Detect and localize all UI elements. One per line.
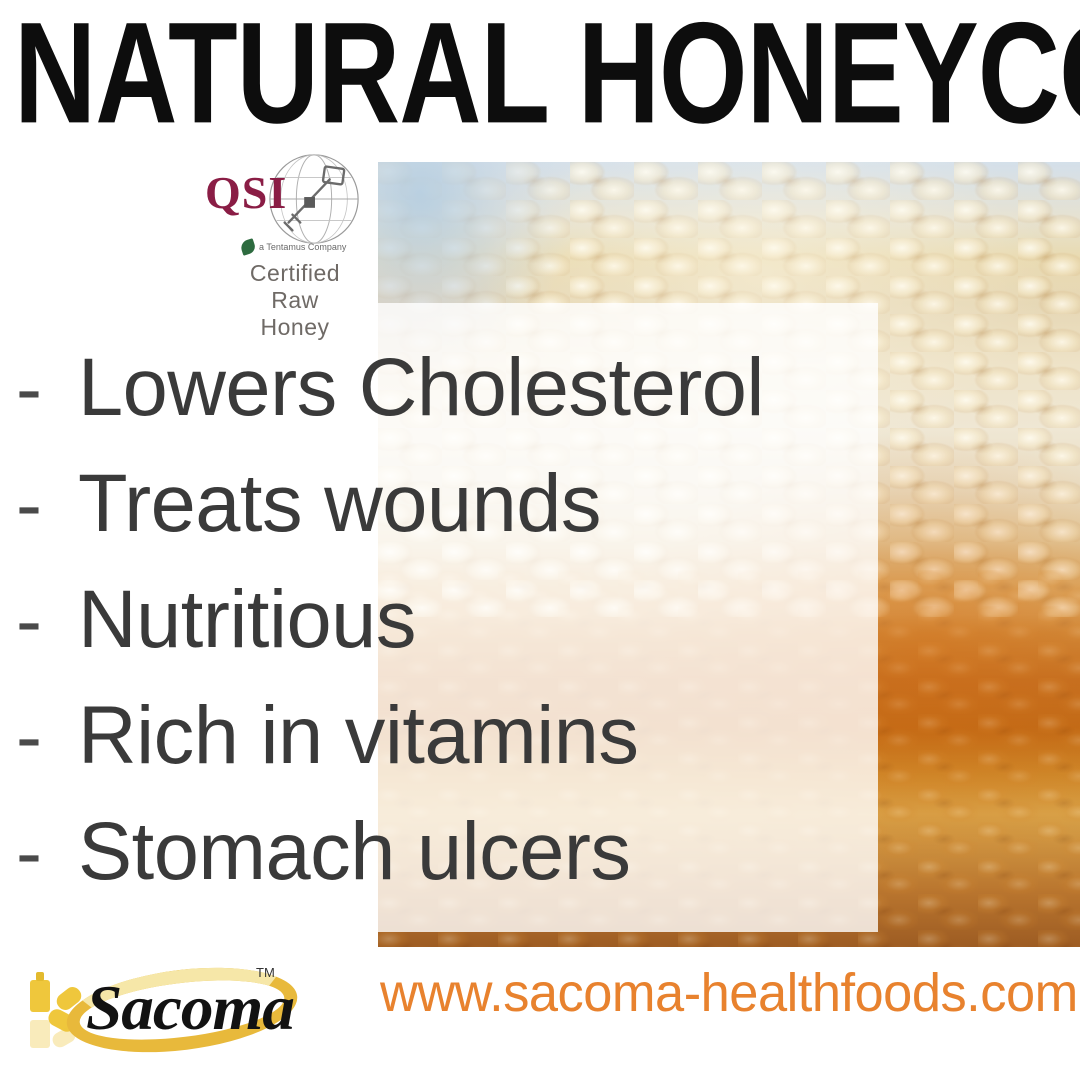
benefit-label: Rich in vitamins	[78, 695, 639, 777]
trademark-symbol: TM	[256, 966, 275, 979]
leaf-icon	[239, 238, 257, 256]
page-title: NATURAL HONEYCOMB	[14, 4, 1033, 144]
poster-canvas: NATURAL HONEYCOMB QSI	[0, 0, 1080, 1080]
list-item: - Lowers Cholesterol	[0, 330, 1000, 446]
sacoma-brand-logo: Sacoma TM	[8, 958, 308, 1070]
bullet-dash: -	[16, 811, 78, 893]
bullet-dash: -	[16, 463, 78, 545]
list-item: - Stomach ulcers	[0, 794, 1000, 910]
sacoma-wordmark: Sacoma	[86, 976, 294, 1040]
website-url[interactable]: www.sacoma-healthfoods.com	[380, 963, 1078, 1023]
benefit-label: Treats wounds	[78, 463, 601, 545]
bullet-dash: -	[16, 695, 78, 777]
qsi-caption: Certified Raw Honey	[205, 260, 385, 341]
bullet-dash: -	[16, 347, 78, 429]
list-item: - Rich in vitamins	[0, 678, 1000, 794]
qsi-mark: QSI	[205, 170, 287, 216]
qsi-caption-line-2: Raw	[205, 287, 385, 314]
list-item: - Nutritious	[0, 562, 1000, 678]
qsi-parent-company-label: a Tentamus Company	[259, 242, 346, 252]
qsi-caption-line-1: Certified	[205, 260, 385, 287]
qsi-parent-company: a Tentamus Company	[241, 240, 346, 254]
qsi-certification-logo: QSI a Tentamus Company Certified Raw Hon…	[205, 148, 385, 338]
benefit-label: Lowers Cholesterol	[78, 347, 764, 429]
list-item: - Treats wounds	[0, 446, 1000, 562]
benefit-label: Stomach ulcers	[78, 811, 631, 893]
bullet-dash: -	[16, 579, 78, 661]
benefit-label: Nutritious	[78, 579, 416, 661]
benefits-list: - Lowers Cholesterol - Treats wounds - N…	[0, 330, 1000, 910]
